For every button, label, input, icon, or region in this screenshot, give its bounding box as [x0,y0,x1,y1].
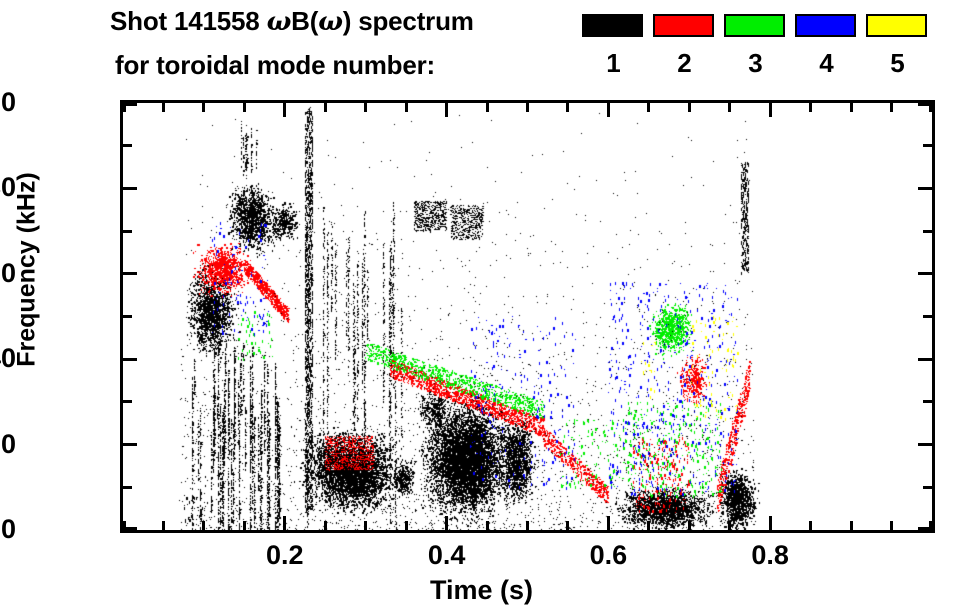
x-tick-label-0.8: 0.8 [710,540,830,570]
y-tick-50 [123,315,132,318]
legend-item-1[interactable]: 1 [582,14,645,37]
legend-item-4[interactable]: 4 [795,14,858,37]
legend-item-3[interactable]: 3 [724,14,787,37]
x-tick-top-0.9 [850,103,853,112]
x-tick-top-0.55 [566,103,569,112]
legend-label-4: 4 [795,48,858,78]
y-tick-right-50 [923,315,932,318]
figure-title-line-1: Shot 141558 ωB(ω) spectrum [110,6,474,37]
y-tick-right-70 [923,230,932,233]
x-tick-0.3 [364,521,367,530]
legend-item-2[interactable]: 2 [653,14,716,37]
title-spectrum-text: ) spectrum [343,6,474,36]
y-tick-40 [123,358,137,361]
y-tick-30 [123,400,132,403]
x-tick-0.65 [647,521,650,530]
legend-swatch-3 [724,14,785,37]
legend-swatch-2 [653,14,714,37]
x-tick-0.7 [688,521,691,530]
x-tick-top-0.35 [405,103,408,112]
title-shot-text: Shot 141558 [110,6,267,36]
x-tick-1 [929,521,932,530]
x-tick-0.9 [850,521,853,530]
x-tick-top-0.3 [364,103,367,112]
y-tick-right-30 [923,400,932,403]
legend-label-2: 2 [653,48,716,78]
y-tick-right-20 [918,443,932,446]
x-tick-0.8 [769,516,772,530]
x-tick-0.85 [809,521,812,530]
x-tick-top-1 [929,103,932,112]
x-tick-0.35 [405,521,408,530]
y-tick-right-60 [918,272,932,275]
legend-label-1: 1 [582,48,645,78]
x-tick-top-0.65 [647,103,650,112]
x-tick-0.2 [283,516,286,530]
spectrogram-figure: Shot 141558 ωB(ω) spectrum for toroidal … [0,0,963,615]
x-tick-top-0.25 [324,103,327,112]
y-tick-label-80: 80 [0,174,16,201]
y-tick-60 [123,272,137,275]
x-tick-top-0.1 [202,103,205,112]
x-tick-top-0.4 [445,103,448,117]
legend-swatch-4 [795,14,856,37]
x-tick-0 [123,521,126,530]
y-tick-label-0: 0 [0,516,16,543]
legend: 12345 [582,14,952,90]
legend-swatch-5 [866,14,927,37]
x-tick-0.95 [890,521,893,530]
x-tick-0.45 [486,521,489,530]
figure-title-line-2: for toroidal mode number: [115,50,435,81]
spectrogram-canvas [123,103,932,530]
x-tick-top-0.15 [243,103,246,112]
y-tick-label-40: 40 [0,345,16,372]
y-tick-80 [123,187,137,190]
x-tick-top-0.6 [607,103,610,117]
x-tick-0.75 [728,521,731,530]
x-tick-0.6 [607,516,610,530]
omega-symbol-2: ω [318,7,343,37]
y-tick-70 [123,230,132,233]
y-tick-label-20: 20 [0,431,16,458]
x-tick-top-0.8 [769,103,772,117]
x-tick-top-0.7 [688,103,691,112]
x-tick-0.5 [526,521,529,530]
legend-label-5: 5 [866,48,929,78]
legend-swatch-1 [582,14,643,37]
x-tick-top-0.45 [486,103,489,112]
x-tick-0.1 [202,521,205,530]
x-tick-top-0.5 [526,103,529,112]
plot-area [120,100,935,533]
y-tick-label-60: 60 [0,260,16,287]
legend-label-3: 3 [724,48,787,78]
x-tick-top-0.95 [890,103,893,112]
x-tick-0.55 [566,521,569,530]
x-tick-top-0.85 [809,103,812,112]
x-tick-0.15 [243,521,246,530]
y-tick-right-10 [923,486,932,489]
y-tick-20 [123,443,137,446]
x-tick-top-0.05 [162,103,165,112]
y-tick-label-100: 100 [0,89,16,116]
y-tick-right-90 [923,144,932,147]
x-tick-0.4 [445,516,448,530]
x-tick-top-0.2 [283,103,286,117]
x-tick-label-0.2: 0.2 [225,540,345,570]
x-tick-label-0.4: 0.4 [387,540,507,570]
y-tick-10 [123,486,132,489]
x-tick-top-0.75 [728,103,731,112]
omega-symbol-1: ω [267,7,292,37]
y-tick-right-40 [918,358,932,361]
x-tick-0.25 [324,521,327,530]
legend-item-5[interactable]: 5 [866,14,929,37]
x-tick-label-0.6: 0.6 [548,540,668,570]
y-axis-title: Frequency (kHz) [13,155,42,385]
y-tick-right-80 [918,187,932,190]
y-tick-90 [123,144,132,147]
title-b-text: B( [291,6,318,36]
x-axis-title: Time (s) [0,575,963,606]
x-tick-0.05 [162,521,165,530]
x-tick-top-0 [123,103,126,112]
